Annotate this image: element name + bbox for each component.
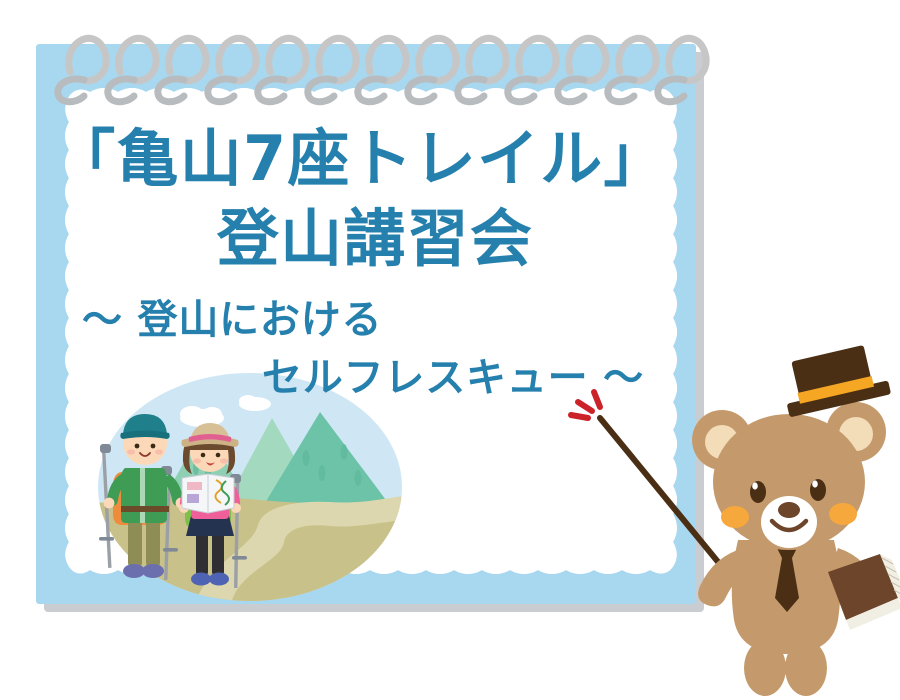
poster-canvas: 「亀山7座トレイル」 登山講習会 ～ 登山における セルフレスキュー ～	[0, 0, 900, 700]
top-hat-icon	[778, 341, 891, 417]
bear-teacher	[692, 341, 900, 696]
poster-artwork	[0, 0, 900, 700]
trail-map	[182, 474, 234, 513]
